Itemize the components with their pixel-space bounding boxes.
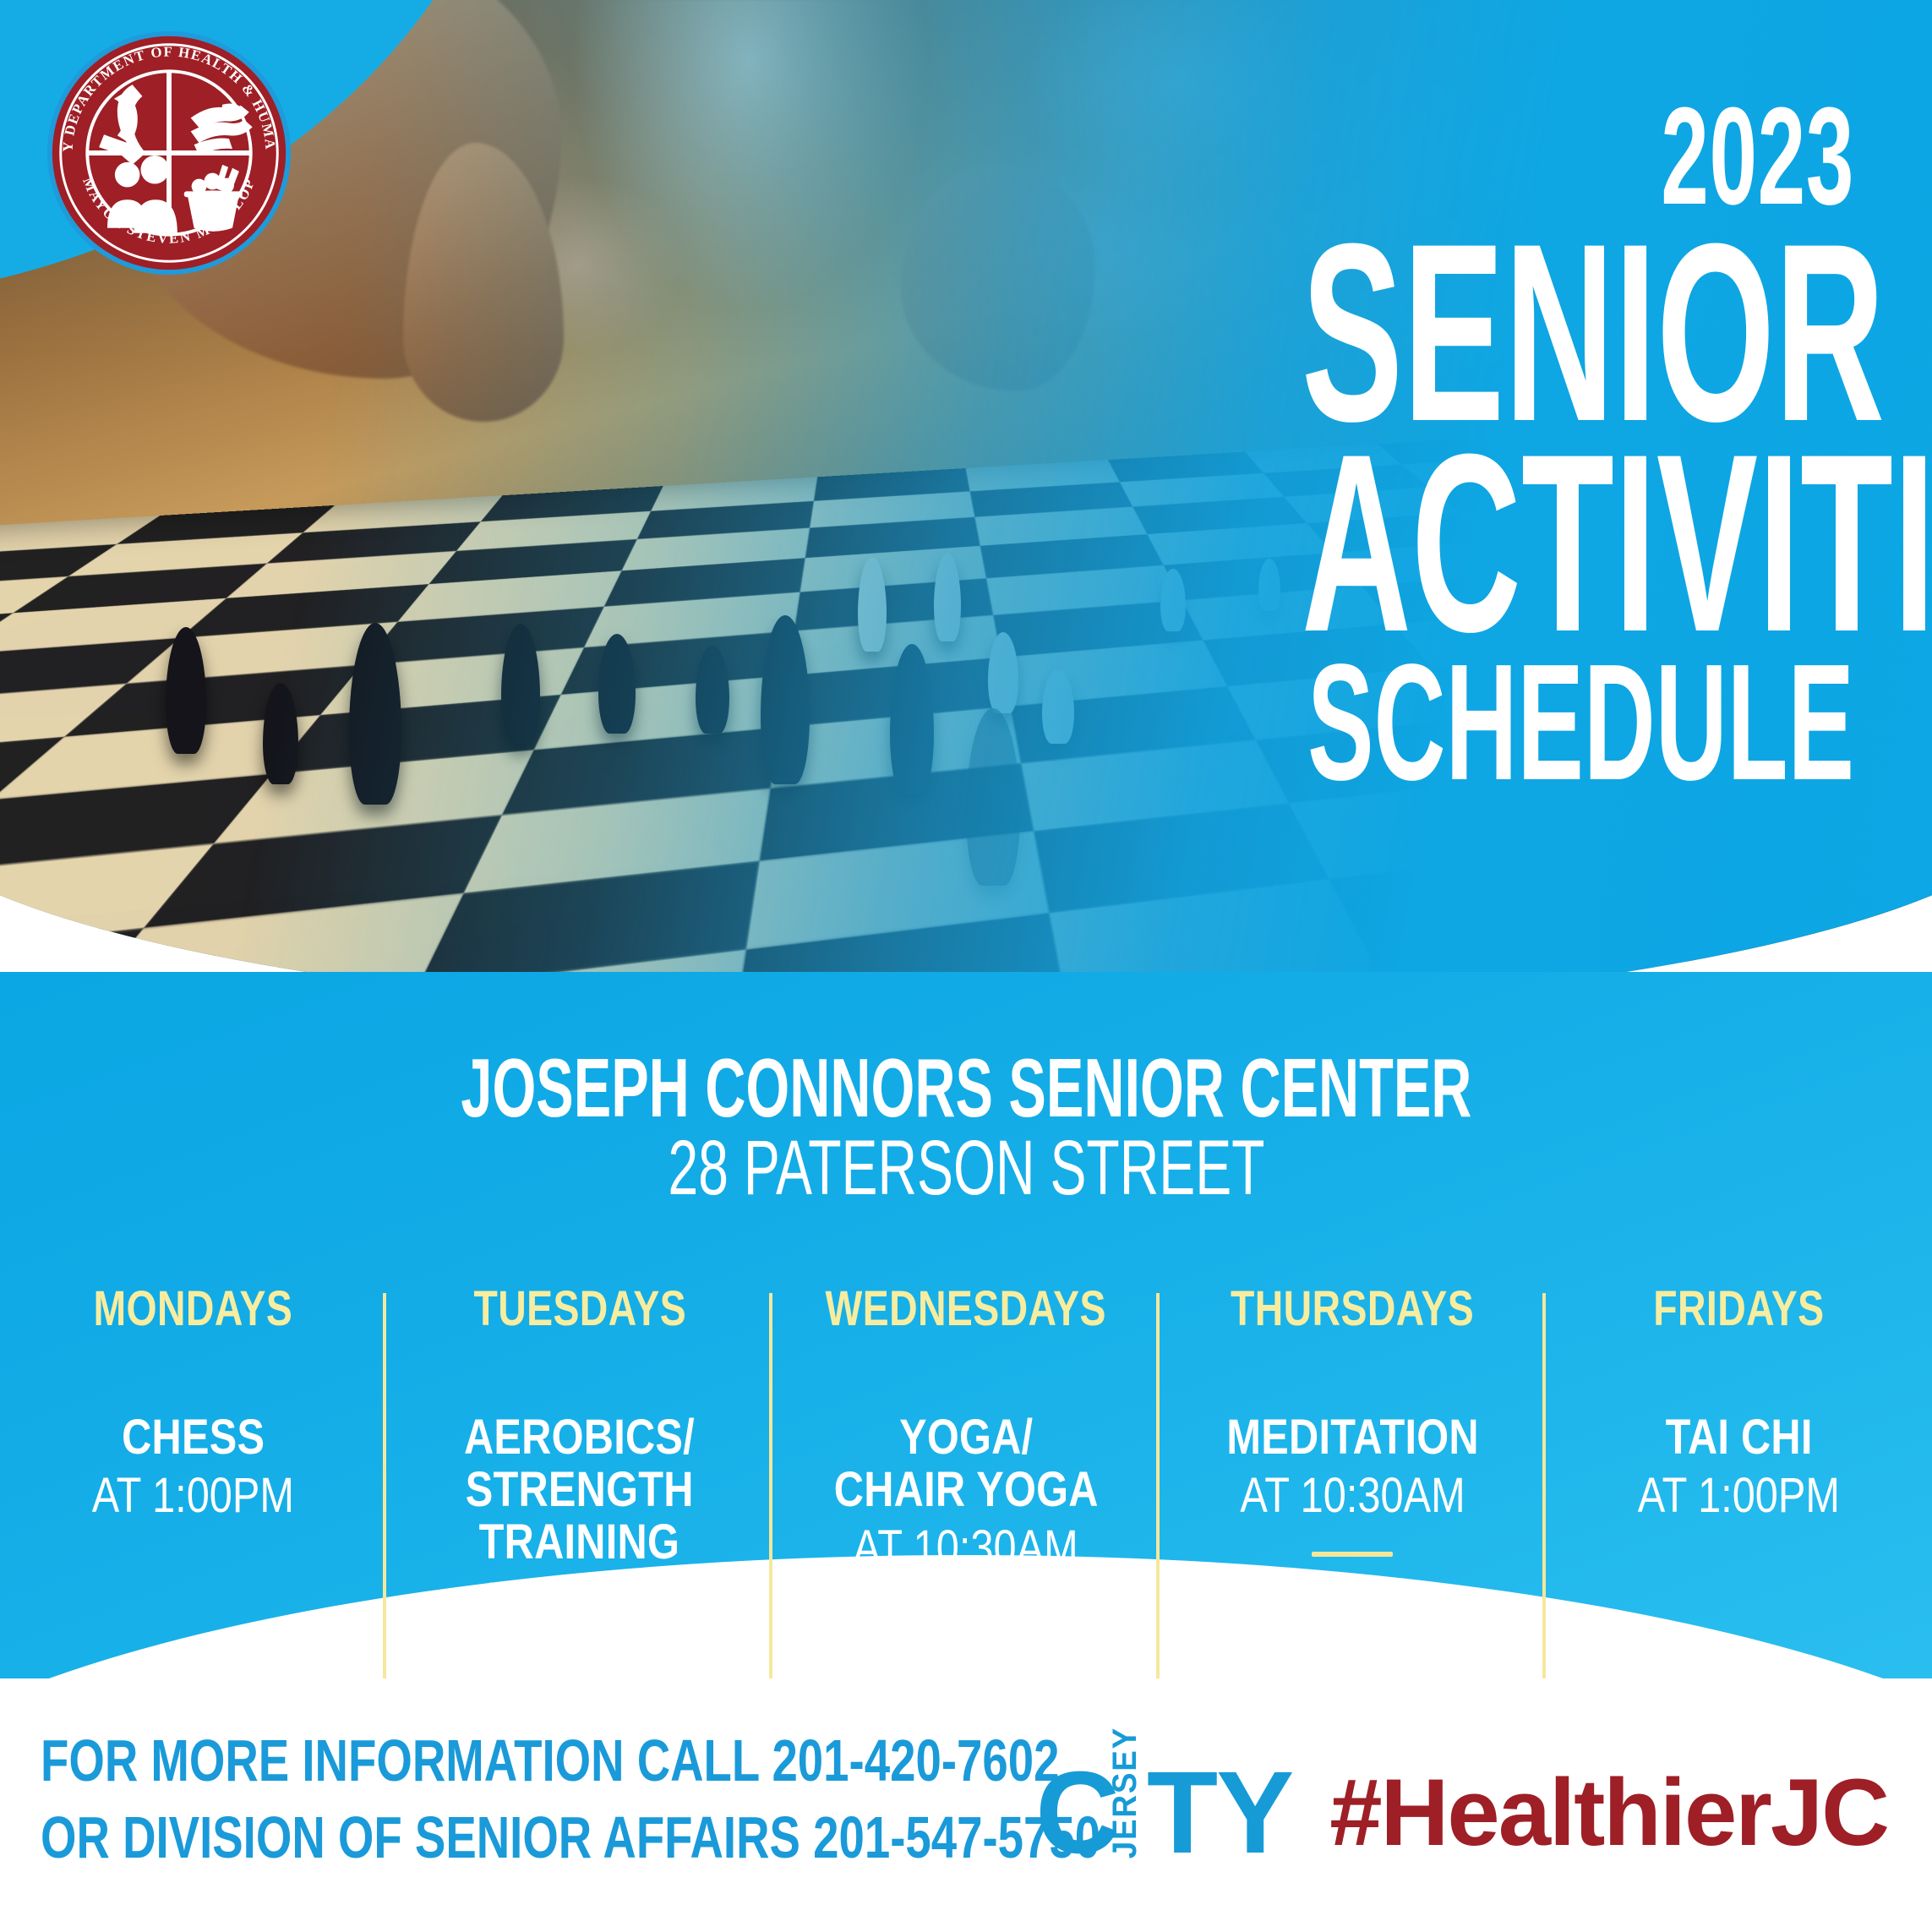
- title-line-activities: ACTIVITIES: [1302, 438, 1854, 648]
- schedule-grid: MONDAYS CHESS AT 1:00PM TUESDAYS AEROBIC…: [0, 1285, 1932, 1724]
- footer: FOR MORE INFORMATION CALL 201-420-7602 O…: [0, 1678, 1932, 1932]
- poster-title: 2023 SENIOR ACTIVITIES SCHEDULE: [933, 93, 1854, 795]
- activity-separator: [1312, 1552, 1393, 1557]
- day-label-monday: MONDAYS: [0, 1285, 386, 1334]
- hero-section: JERSEY CITY DEPARTMENT OF HEALTH & HUMAN…: [0, 0, 1932, 1018]
- healthier-jc-hashtag: #HealthierJC: [1329, 1766, 1888, 1860]
- activity-name: YOGA/: [772, 1411, 1159, 1464]
- jc-logo-jersey: JERSEY: [1108, 1767, 1142, 1859]
- activity-name: TRAINING: [386, 1516, 772, 1569]
- day-label-tuesday: TUESDAYS: [386, 1285, 772, 1334]
- jc-logo-c: C: [1035, 1755, 1115, 1871]
- activity-list-friday: TAI CHI AT 1:00PM: [1546, 1411, 1932, 1525]
- venue-address: 28 PATERSON STREET: [0, 1129, 1932, 1207]
- activity-item: CHESS AT 1:00PM: [0, 1411, 386, 1525]
- activity-list-tuesday: AEROBICS/ STRENGTH TRAINING AT 1:00PM: [386, 1411, 772, 1630]
- activity-item: TAI CHI AT 1:00PM: [1546, 1411, 1932, 1525]
- activity-list-thursday: MEDITATION AT 10:30AM BINGO AT 1:00PM: [1160, 1411, 1546, 1693]
- schedule-column-tuesday: TUESDAYS AEROBICS/ STRENGTH TRAINING AT …: [386, 1285, 772, 1724]
- activity-item: MEDITATION AT 10:30AM: [1160, 1411, 1546, 1525]
- schedule-column-wednesday: WEDNESDAYS YOGA/ CHAIR YOGA AT 10:30AM: [772, 1285, 1159, 1724]
- activity-name: BINGO: [1160, 1579, 1546, 1631]
- venue-address-text: 28 PATERSON STREET: [668, 1129, 1264, 1207]
- jc-logo-ty: TY: [1147, 1755, 1292, 1871]
- activity-list-monday: CHESS AT 1:00PM: [0, 1411, 386, 1525]
- activity-time: AT 1:00PM: [0, 1467, 386, 1525]
- activity-name: CHAIR YOGA: [772, 1464, 1159, 1516]
- activity-item: YOGA/ CHAIR YOGA AT 10:30AM: [772, 1411, 1159, 1578]
- jersey-city-health-seal-icon: JERSEY CITY DEPARTMENT OF HEALTH & HUMAN…: [44, 28, 294, 278]
- activity-name: AEROBICS/: [386, 1411, 772, 1464]
- activity-time: AT 10:30AM: [1160, 1467, 1546, 1525]
- schedule-column-monday: MONDAYS CHESS AT 1:00PM: [0, 1285, 386, 1724]
- activity-list-wednesday: YOGA/ CHAIR YOGA AT 10:30AM: [772, 1411, 1159, 1578]
- title-line-schedule: SCHEDULE: [1302, 650, 1854, 795]
- activity-name: TAI CHI: [1546, 1411, 1932, 1464]
- schedule-column-thursday: THURSDAYS MEDITATION AT 10:30AM BINGO AT…: [1160, 1285, 1546, 1724]
- activity-name: STRENGTH: [386, 1464, 772, 1516]
- venue-name-text: JOSEPH CONNORS SENIOR CENTER: [461, 1046, 1471, 1129]
- activity-item: BINGO AT 1:00PM: [1160, 1579, 1546, 1692]
- activity-time: AT 1:00PM: [1546, 1467, 1932, 1525]
- day-label-thursday: THURSDAYS: [1160, 1285, 1546, 1334]
- day-label-friday: FRIDAYS: [1546, 1285, 1932, 1334]
- day-label-wednesday: WEDNESDAYS: [772, 1285, 1159, 1334]
- activity-item: AEROBICS/ STRENGTH TRAINING AT 1:00PM: [386, 1411, 772, 1630]
- venue-name: JOSEPH CONNORS SENIOR CENTER: [0, 1046, 1932, 1129]
- activity-time: AT 1:00PM: [386, 1572, 772, 1629]
- footer-logos: C JERSEY TY #HealthierJC: [1035, 1763, 1888, 1863]
- activity-name: MEDITATION: [1160, 1411, 1546, 1464]
- schedule-column-friday: FRIDAYS TAI CHI AT 1:00PM: [1546, 1285, 1932, 1724]
- activity-time: AT 10:30AM: [772, 1520, 1159, 1577]
- jersey-city-logo: C JERSEY TY: [1035, 1763, 1292, 1863]
- poster-root: JERSEY CITY DEPARTMENT OF HEALTH & HUMAN…: [0, 0, 1932, 1932]
- activity-name: CHESS: [0, 1411, 386, 1464]
